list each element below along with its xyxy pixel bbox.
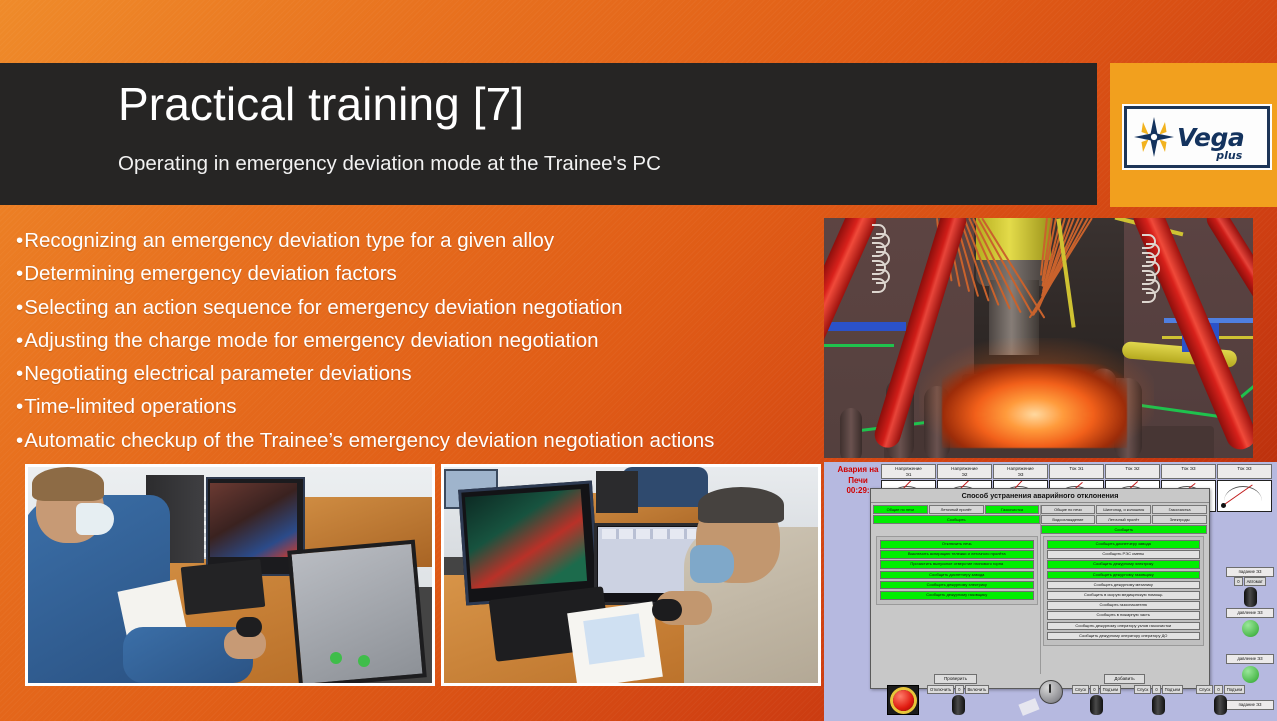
electrode-knob[interactable] bbox=[1152, 695, 1165, 715]
dialog-tab[interactable]: Общие по печи bbox=[873, 505, 928, 514]
list-item: •Adjusting the charge mode for emergency… bbox=[16, 324, 816, 357]
tab-row: Общие по печиШихтопод. и колошникГазоочи… bbox=[1041, 505, 1208, 514]
right-column-caption: давление Э3 bbox=[1226, 608, 1274, 618]
photo-person-hair bbox=[32, 467, 104, 501]
bullet-list: •Recognizing an emergency deviation type… bbox=[16, 224, 816, 457]
gauge-label: Ток Э3 bbox=[1161, 464, 1216, 479]
action-button[interactable]: Сообщить газоспасателю bbox=[1047, 601, 1201, 610]
slide-canvas: Practical training [7] Operating in emer… bbox=[0, 0, 1277, 721]
molten-charge bbox=[942, 364, 1127, 448]
left-pane: Отключить печьВыключить аспирацию тележк… bbox=[876, 536, 1038, 646]
page-subtitle: Operating in emergency deviation mode at… bbox=[118, 151, 661, 177]
list-item-label: Determining emergency deviation factors bbox=[24, 262, 397, 285]
action-button[interactable]: Сообщить дежурному электрику bbox=[1047, 560, 1201, 569]
electrode-up-button[interactable]: Подъем bbox=[1224, 685, 1245, 694]
electrode-down-button[interactable]: Спуск bbox=[1072, 685, 1089, 694]
dialog-tab[interactable]: Шихтопод. и колошник bbox=[1096, 505, 1151, 514]
action-button[interactable]: Сообщить дежурному газовщику bbox=[1047, 571, 1201, 580]
electrode-controls[interactable]: Спуск0ПодъемСпуск0ПодъемСпуск0Подъем bbox=[1072, 685, 1245, 715]
rotary-dial-icon[interactable] bbox=[1039, 680, 1063, 704]
dialog-tab[interactable]: Газоочистка bbox=[985, 505, 1040, 514]
gauge-label: НапряжениеЭ3 bbox=[993, 464, 1048, 479]
dialog-title: Способ устранения аварийного отклонения bbox=[871, 489, 1209, 503]
action-button[interactable]: Сообщить дежурному газовщику bbox=[880, 591, 1034, 600]
dialog-tab[interactable]: Леточный пролёт bbox=[929, 505, 984, 514]
electrode-down-button[interactable]: Спуск bbox=[1134, 685, 1151, 694]
power-knob[interactable] bbox=[952, 695, 965, 715]
green-rail bbox=[824, 344, 894, 347]
logo-wordmark: Vega plus bbox=[1177, 125, 1244, 150]
gauge-dial bbox=[1217, 480, 1272, 512]
electrode-knob[interactable] bbox=[1090, 695, 1103, 715]
tab-row: Сообщить bbox=[1041, 525, 1208, 534]
title-bar: Practical training [7] Operating in emer… bbox=[0, 63, 1097, 205]
electrode-down-button[interactable]: Спуск bbox=[1196, 685, 1213, 694]
blue-beam-left bbox=[824, 322, 906, 331]
photo-laptop-panel bbox=[287, 540, 427, 686]
action-button[interactable]: Выключить аспирацию тележки и леточного … bbox=[880, 550, 1034, 559]
electrode-knob[interactable] bbox=[1214, 695, 1227, 715]
gauge-label: Ток Э3 bbox=[1217, 464, 1272, 479]
electrode-up-button[interactable]: Подъем bbox=[1162, 685, 1183, 694]
list-item: •Time-limited operations bbox=[16, 390, 816, 423]
gauge-label: Ток Э2 bbox=[1105, 464, 1160, 479]
power-off-button[interactable]: Отключить bbox=[927, 685, 954, 694]
cooling-hose bbox=[840, 408, 862, 458]
photo-keyboard bbox=[181, 559, 266, 615]
bullet-marker: • bbox=[16, 362, 24, 385]
power-on-button[interactable]: Включить bbox=[965, 685, 990, 694]
gauge-label: НапряжениеЭ2 bbox=[937, 464, 992, 479]
logo-tagline: plus bbox=[1216, 150, 1242, 161]
photo-mouse bbox=[652, 599, 682, 621]
action-button[interactable]: Сообщить дежурному механику bbox=[1047, 581, 1201, 590]
furnace-3d-render bbox=[824, 218, 1253, 458]
status-lamp bbox=[1242, 620, 1259, 637]
mode-value: 0 bbox=[1234, 577, 1242, 586]
list-item: •Automatic checkup of the Trainee’s emer… bbox=[16, 424, 816, 457]
list-item-label: Recognizing an emergency deviation type … bbox=[24, 229, 554, 252]
star-burst-icon bbox=[1132, 115, 1176, 159]
action-button[interactable]: Сообщить в пожарную часть bbox=[1047, 611, 1201, 620]
action-button[interactable]: Сообщить РЭС смены bbox=[1047, 550, 1201, 559]
electrode-value: 0 bbox=[1214, 685, 1222, 694]
bullet-marker: • bbox=[16, 296, 24, 319]
action-button[interactable]: Сообщить в скорую медицинскую помощь bbox=[1047, 591, 1201, 600]
dialog-tab[interactable]: Сообщить bbox=[873, 515, 1040, 524]
rotary-knob[interactable] bbox=[1244, 587, 1257, 607]
action-button[interactable]: Сообщить диспетчеру завода bbox=[880, 571, 1034, 580]
logo-box: Vega plus bbox=[1124, 106, 1270, 168]
dialog-tab[interactable]: Сообщить bbox=[1041, 525, 1208, 534]
alarm-line-2: Печи bbox=[827, 476, 889, 487]
photo-3d-wireframe bbox=[465, 489, 587, 589]
list-item: •Recognizing an emergency deviation type… bbox=[16, 224, 816, 257]
photo-panel-lamp bbox=[358, 655, 370, 667]
gauge-label: Ток Э1 bbox=[1049, 464, 1104, 479]
list-item-label: Time-limited operations bbox=[24, 395, 236, 418]
auto-mode-label[interactable]: Автомат bbox=[1244, 577, 1266, 586]
right-action-list[interactable]: Сообщить диспетчеру заводаСообщить РЭС с… bbox=[1043, 536, 1205, 646]
action-button[interactable]: Сообщить диспетчеру завода bbox=[1047, 540, 1201, 549]
electrode-control[interactable]: Спуск0Подъем bbox=[1072, 685, 1121, 715]
left-action-list[interactable]: Отключить печьВыключить аспирацию тележк… bbox=[876, 536, 1038, 605]
logo-panel: Vega plus bbox=[1110, 63, 1277, 207]
gauge-label: НапряжениеЭ1 bbox=[881, 464, 936, 479]
list-item-label: Selecting an action sequence for emergen… bbox=[24, 296, 622, 319]
photo-monitor-screen bbox=[210, 483, 297, 557]
photo-document-form bbox=[583, 613, 645, 664]
action-button[interactable]: Сообщить дежурному оператору узлов газоо… bbox=[1047, 622, 1201, 631]
dialog-tab[interactable]: Водоохлаждение bbox=[1041, 515, 1096, 524]
list-item: •Negotiating electrical parameter deviat… bbox=[16, 357, 816, 390]
electrode-value: 0 bbox=[1152, 685, 1160, 694]
right-column-item: падание Э30Автомат bbox=[1226, 567, 1274, 607]
action-button[interactable]: Сообщить дежурному электрику bbox=[880, 581, 1034, 590]
right-column-caption: падание Э3 bbox=[1226, 567, 1274, 577]
bottom-control-bar: Отключить0Включить Спуск0ПодъемСпуск0Под… bbox=[824, 677, 1277, 717]
photo-face-mask bbox=[690, 545, 734, 583]
action-button[interactable]: Сообщить дежурному оператору оператору Д… bbox=[1047, 632, 1201, 641]
emergency-dialog[interactable]: Способ устранения аварийного отклонения … bbox=[870, 488, 1210, 689]
gauge: Ток Э3 bbox=[1217, 464, 1272, 512]
photo-panel-lamp bbox=[330, 652, 342, 664]
pane-divider bbox=[1040, 505, 1041, 674]
tab-row: ВодоохлаждениеЛеточный пролётЭлектроды bbox=[1041, 515, 1208, 524]
right-tab-group: Общие по печиШихтопод. и колошникГазоочи… bbox=[1041, 505, 1208, 534]
action-button[interactable]: Отключить печь bbox=[880, 540, 1034, 549]
training-photo-1 bbox=[25, 464, 435, 686]
page-title: Practical training [7] bbox=[118, 74, 524, 134]
training-photo-2 bbox=[441, 464, 821, 686]
bullet-marker: • bbox=[16, 262, 24, 285]
hmi-screenshot: Авария на Печи 00:29: НапряжениеЭ1Напряж… bbox=[824, 462, 1277, 721]
logo-name: Vega bbox=[1177, 123, 1244, 152]
bullet-marker: • bbox=[16, 229, 24, 252]
mode-row[interactable]: 0Автомат bbox=[1226, 577, 1274, 586]
right-column-caption: давление Э3 bbox=[1226, 654, 1274, 664]
power-switch-control[interactable]: Отключить0Включить bbox=[927, 685, 989, 715]
emergency-stop-icon bbox=[893, 690, 914, 711]
bullet-marker: • bbox=[16, 329, 24, 352]
power-value: 0 bbox=[955, 685, 963, 694]
photo-mouse bbox=[236, 617, 262, 637]
list-item: •Determining emergency deviation factors bbox=[16, 257, 816, 290]
alarm-line-1: Авария на bbox=[827, 465, 889, 476]
tab-row: Сообщить bbox=[873, 515, 1040, 524]
dial-label-tag bbox=[1018, 698, 1039, 716]
action-button[interactable]: Прочистить выпускное отверстие глинового… bbox=[880, 560, 1034, 569]
bullet-marker: • bbox=[16, 395, 24, 418]
dialog-tab[interactable]: Электроды bbox=[1152, 515, 1207, 524]
list-item: •Selecting an action sequence for emerge… bbox=[16, 291, 816, 324]
photo-tower-pc bbox=[596, 471, 638, 513]
list-item-label: Negotiating electrical parameter deviati… bbox=[24, 362, 411, 385]
electrode-control[interactable]: Спуск0Подъем bbox=[1196, 685, 1245, 715]
electrode-value: 0 bbox=[1090, 685, 1098, 694]
left-tab-group: Общие по печиЛеточный пролётГазоочисткаС… bbox=[873, 505, 1040, 534]
photo-person-hair bbox=[698, 487, 784, 523]
right-column-item: давление Э3 bbox=[1226, 608, 1274, 637]
bullet-marker: • bbox=[16, 429, 24, 452]
dialog-tab[interactable]: Газоочистка bbox=[1152, 505, 1207, 514]
photo-hmi-toprow bbox=[602, 529, 696, 539]
tab-row: Общие по печиЛеточный пролётГазоочистка bbox=[873, 505, 1040, 514]
electrode-up-button[interactable]: Подъем bbox=[1100, 685, 1121, 694]
list-item-label: Adjusting the charge mode for emergency … bbox=[24, 329, 598, 352]
emergency-stop-button[interactable] bbox=[887, 685, 919, 715]
dialog-tab[interactable]: Леточный пролёт bbox=[1096, 515, 1151, 524]
dialog-tab[interactable]: Общие по печи bbox=[1041, 505, 1096, 514]
photo-face-mask bbox=[76, 503, 114, 535]
right-pane: Сообщить диспетчеру заводаСообщить РЭС с… bbox=[1043, 536, 1205, 646]
electrode-control[interactable]: Спуск0Подъем bbox=[1134, 685, 1183, 715]
list-item-label: Automatic checkup of the Trainee’s emerg… bbox=[24, 429, 714, 452]
